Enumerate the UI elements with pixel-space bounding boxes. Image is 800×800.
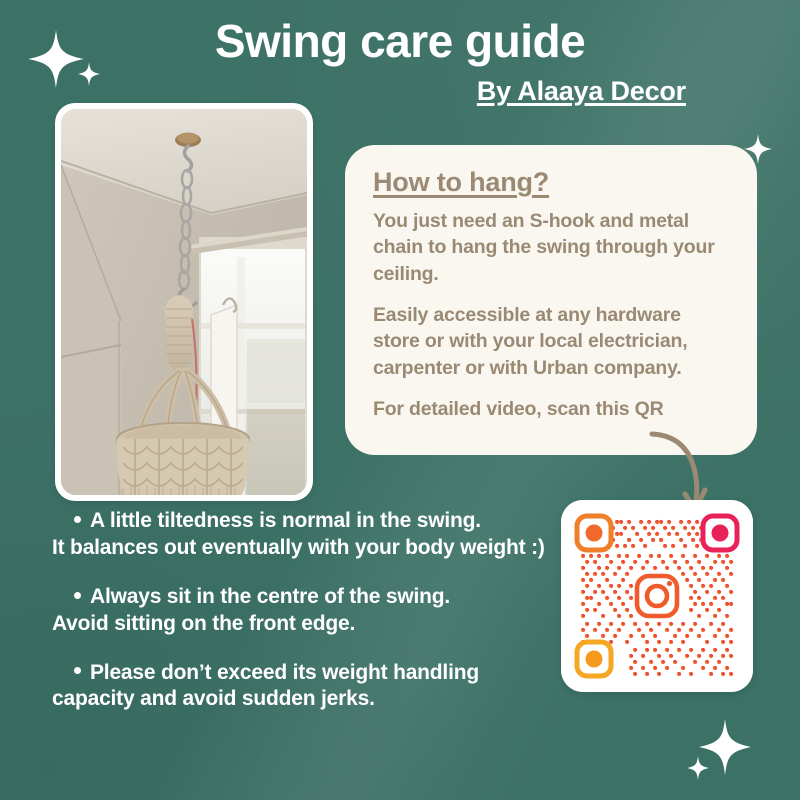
care-tips-list: A little tiltedness is normal in the swi…	[52, 508, 552, 713]
tip-2-rest: Avoid sitting on the front edge.	[52, 611, 552, 638]
how-to-hang-card: How to hang? You just need an S-hook and…	[345, 145, 757, 455]
card-paragraph-2: Easily accessible at any hardware store …	[373, 302, 731, 381]
bullet-dot-icon	[74, 592, 81, 599]
list-item: Always sit in the centre of the swing. A…	[52, 584, 552, 638]
swing-photo	[61, 109, 307, 495]
list-item: A little tiltedness is normal in the swi…	[52, 508, 552, 562]
card-paragraph-3: For detailed video, scan this QR	[373, 396, 731, 422]
bullet-dot-icon	[74, 667, 81, 674]
sparkle-bottom-right-large-icon	[699, 719, 751, 775]
instagram-qr-code[interactable]	[561, 500, 753, 692]
poster-canvas: Swing care guide By Alaaya Decor	[0, 0, 800, 800]
tip-3-lead: Please don’t exceed its weight handling	[52, 660, 552, 687]
swing-photo-frame	[55, 103, 313, 501]
tip-3-rest: capacity and avoid sudden jerks.	[52, 686, 552, 713]
tip-1-lead: A little tiltedness is normal in the swi…	[52, 508, 552, 535]
tip-2-lead-text: Always sit in the centre of the swing.	[90, 585, 450, 608]
page-title: Swing care guide	[0, 16, 800, 67]
tip-1-lead-text: A little tiltedness is normal in the swi…	[90, 509, 481, 532]
card-heading: How to hang?	[373, 167, 549, 198]
list-item: Please don’t exceed its weight handling …	[52, 660, 552, 714]
tip-3-lead-text: Please don’t exceed its weight handling	[90, 661, 479, 684]
swing-photo-illustration	[61, 109, 307, 495]
byline: By Alaaya Decor	[477, 76, 686, 107]
tip-2-lead: Always sit in the centre of the swing.	[52, 584, 552, 611]
bullet-dot-icon	[74, 516, 81, 523]
sparkle-bottom-right-small-icon	[687, 756, 709, 780]
card-paragraph-1: You just need an S-hook and metal chain …	[373, 208, 731, 287]
tip-1-rest: It balances out eventually with your bod…	[52, 535, 552, 562]
